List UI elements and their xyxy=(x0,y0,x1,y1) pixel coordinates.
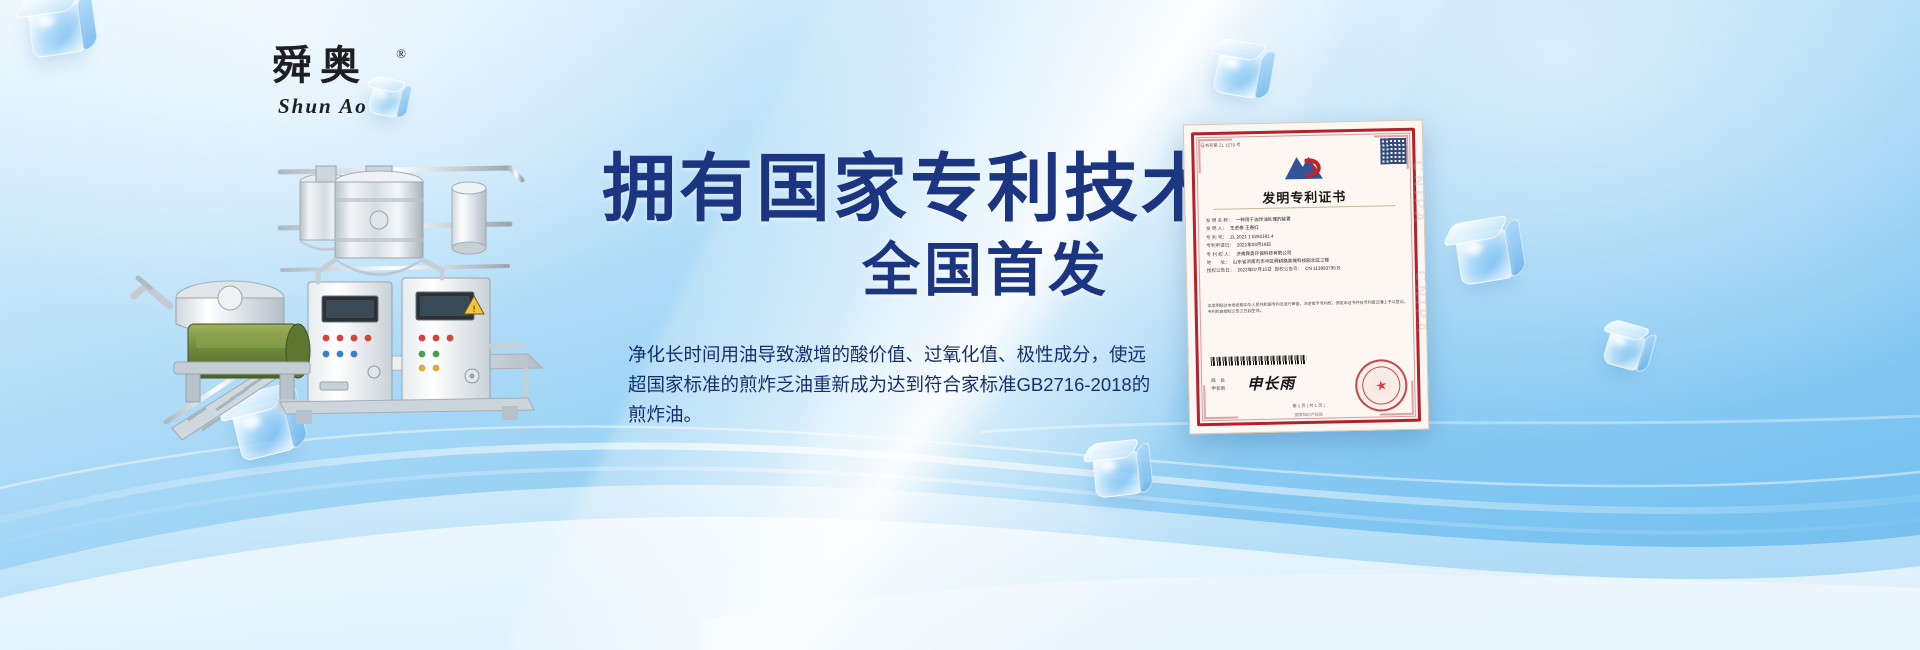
ice-cube xyxy=(27,1,87,58)
cnipa-emblem-icon xyxy=(1280,153,1327,184)
patent-certificate: 证书号第 ZL 1579 号 发明专利证书 发 明 名 称：一种用于油炸油处理的… xyxy=(1183,120,1429,435)
headline-line-2: 全国首发 xyxy=(602,238,1242,304)
qr-code-icon xyxy=(1380,138,1407,165)
ice-cube xyxy=(1454,228,1515,286)
headline-line-1: 拥有国家专利技术 xyxy=(602,148,1242,230)
certificate-number: 证书号第 ZL 1579 号 xyxy=(1200,142,1240,149)
description-line-3: 煎炸油。 xyxy=(628,400,1080,430)
certificate-fields: 发 明 名 称：一种用于油炸油处理的装置 发 明 人：王进泰 王春红 专 利 号… xyxy=(1206,213,1407,276)
hero-banner: 舜奥 ® Shun Ao xyxy=(0,0,1920,650)
description-line-1: 净化长时间用油导致激增的酸价值、过氧化值、极性成分，使远 xyxy=(628,340,1080,370)
description-line-2: 超国家标准的煎炸乏油重新成为达到符合家标准GB2716-2018的 xyxy=(628,370,1080,400)
description-paragraph: 净化长时间用油导致激增的酸价值、过氧化值、极性成分，使远 超国家标准的煎炸乏油重… xyxy=(628,340,1080,430)
registered-mark-icon: ® xyxy=(396,46,406,62)
watermark: CNIPA xyxy=(1412,270,1429,336)
watermark: CNIPA xyxy=(1410,160,1428,226)
certificate-signature: 申长雨 xyxy=(1247,372,1295,394)
machine-illustration: ! xyxy=(130,110,600,450)
ice-cube xyxy=(1213,48,1266,99)
certificate-signature-label: 局 长 申长雨 xyxy=(1211,377,1225,393)
svg-text:!: ! xyxy=(472,305,476,315)
brand-logo-chinese: 舜奥 xyxy=(272,44,392,88)
headline: 拥有国家专利技术 全国首发 xyxy=(602,148,1242,304)
